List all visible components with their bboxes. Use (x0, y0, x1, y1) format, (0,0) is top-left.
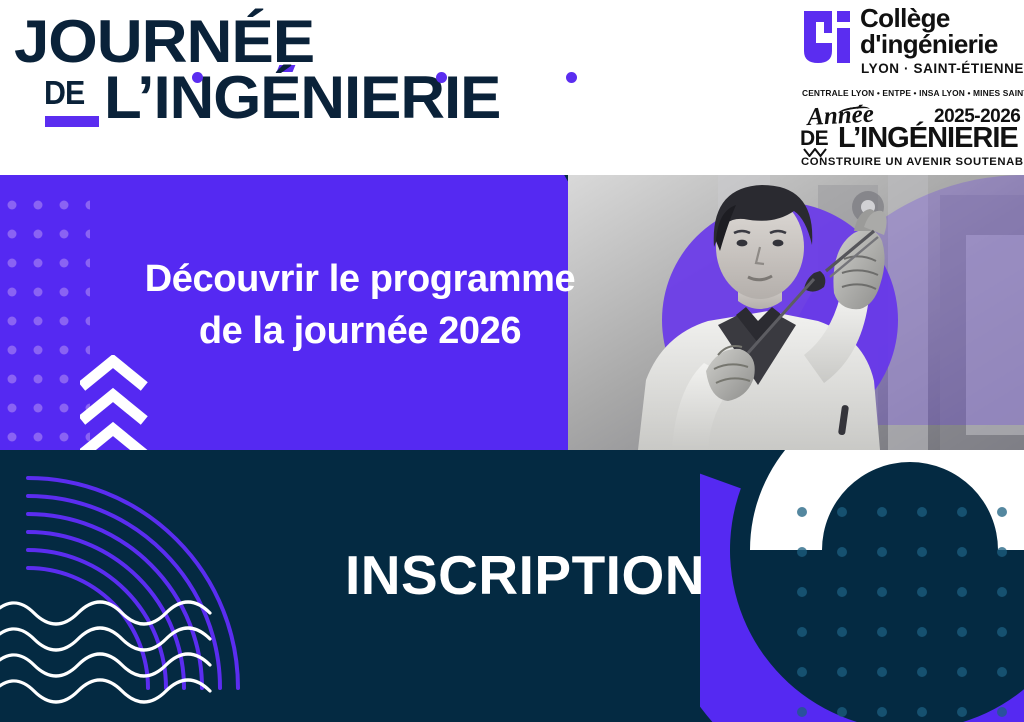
scientist-photo (568, 175, 1024, 450)
chevron-up-stack-icon (80, 355, 150, 450)
dot-grid-pattern-icon (0, 175, 90, 450)
college-city: LYON · SAINT-ÉTIENNE (861, 61, 1024, 76)
college-name-line1: Collège (860, 5, 998, 31)
inscription-cta-label[interactable]: INSCRIPTION (345, 548, 705, 603)
badge-word-de: DE (800, 128, 828, 149)
logo-line-journee: JOURNÉE (14, 12, 314, 72)
college-name: Collège d'ingénierie (860, 5, 998, 57)
shield-icon (802, 9, 852, 65)
college-ingenierie-logo: Collège d'ingénierie LYON · SAINT-ÉTIENN… (794, 4, 1024, 102)
annee-ingenierie-badge: Année 2025-2026 DE L’INGÉNIERIE CONSTRUI… (794, 104, 1024, 172)
headline-line-2: de la journée 2026 (100, 305, 620, 357)
badge-tagline: CONSTRUIRE UN AVENIR SOUTENABLE (801, 156, 1024, 168)
dot-overlay-pattern-icon (790, 500, 1024, 722)
logo-word-de: DE (44, 76, 84, 109)
logo-de-underline-icon (45, 116, 99, 127)
poster-page: JOURNÉE DE L’INGÉNIERIE Collège d'ingéni… (0, 0, 1024, 722)
header-bar: JOURNÉE DE L’INGÉNIERIE Collège d'ingéni… (0, 0, 1024, 175)
logo-dot-icon-1 (192, 72, 203, 83)
college-name-line2: d'ingénierie (860, 31, 998, 57)
headline-line-1: Découvrir le programme (100, 253, 620, 305)
banner-headline: Découvrir le programme de la journée 202… (100, 253, 620, 357)
journee-ingenierie-logo: JOURNÉE DE L’INGÉNIERIE (8, 8, 648, 163)
logo-dot-icon-2 (436, 72, 447, 83)
college-schools-list: CENTRALE LYON • ENTPE • INSA LYON • MINE… (802, 88, 1024, 98)
programme-banner[interactable]: Découvrir le programme de la journée 202… (0, 175, 1024, 450)
scientist-photo-illustration (568, 175, 1024, 450)
badge-main-word: L’INGÉNIERIE (838, 124, 1018, 153)
wave-lines-icon (0, 595, 335, 705)
logo-dot-icon-3 (566, 72, 577, 83)
